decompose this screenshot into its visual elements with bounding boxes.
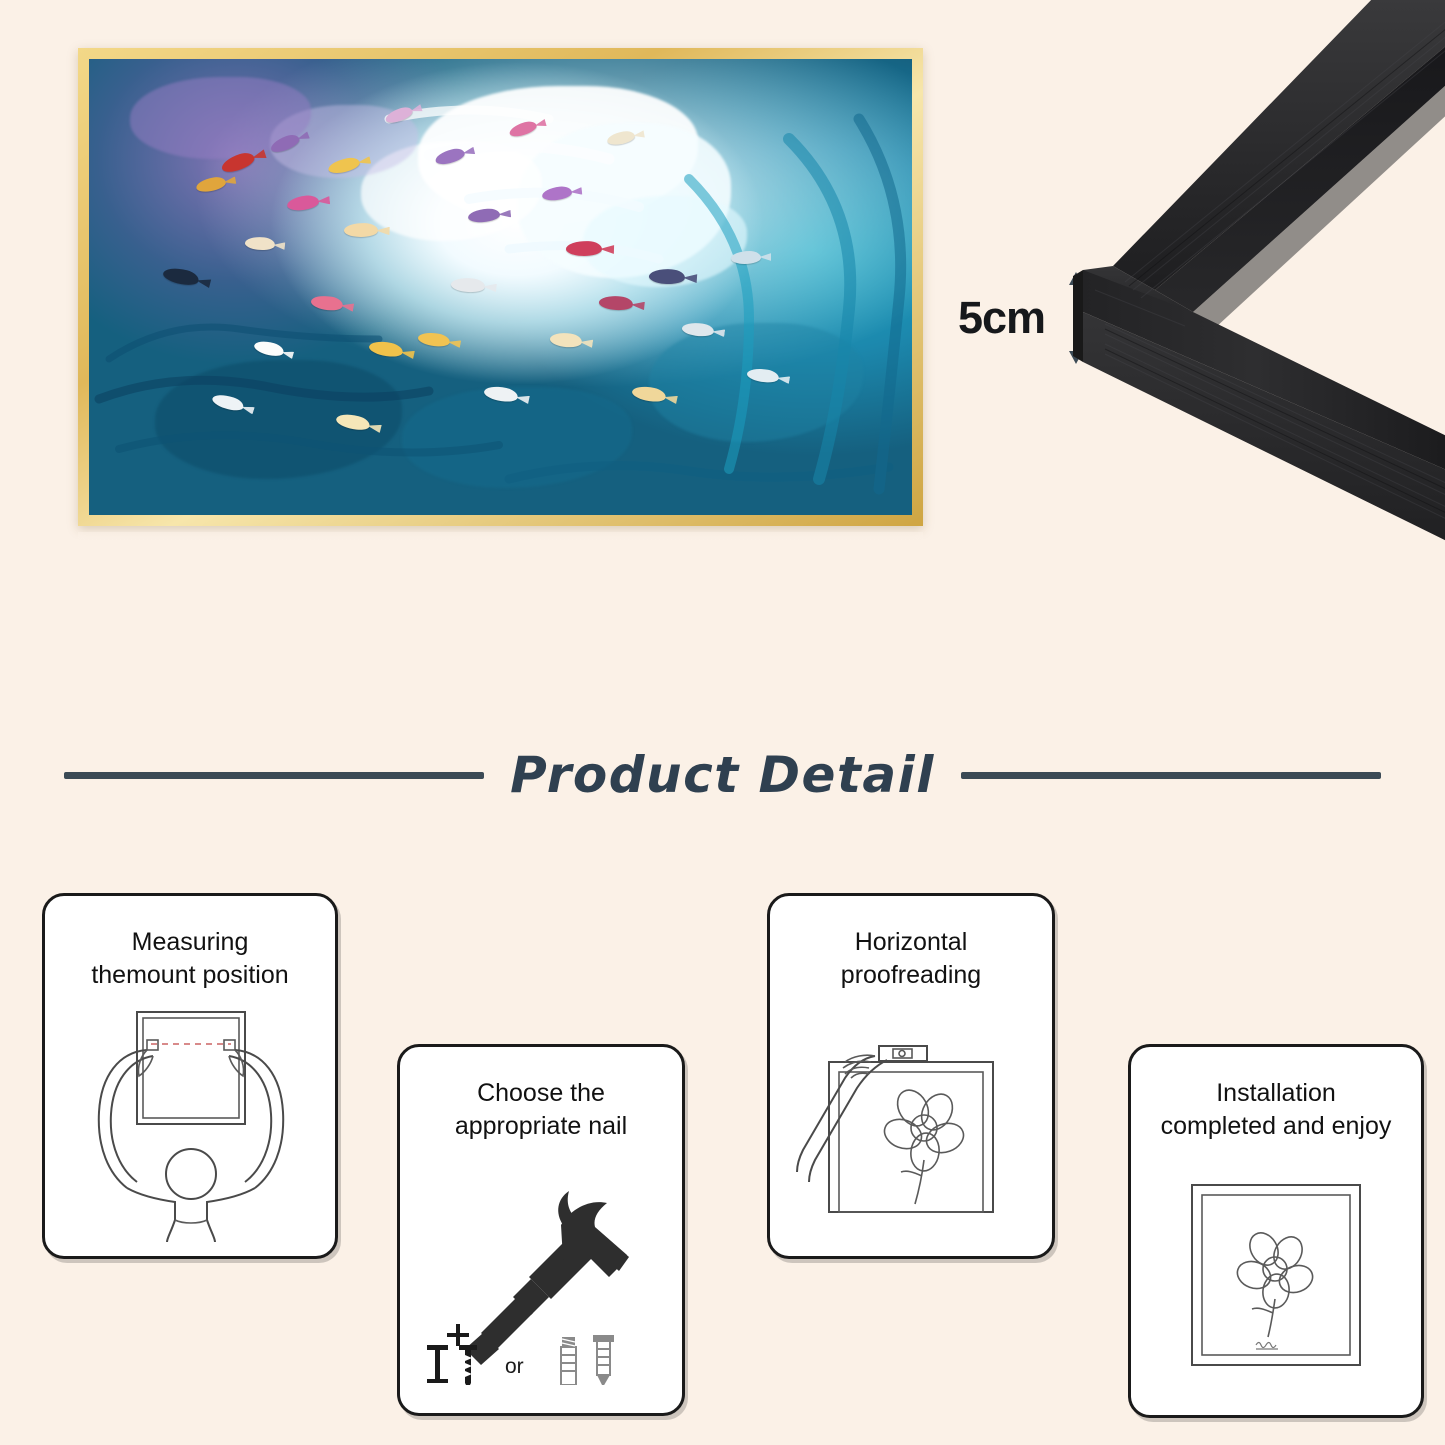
artwork-mirror-reflection (78, 532, 923, 877)
framed-artwork (78, 48, 923, 526)
fish-painting (89, 59, 912, 515)
instruction-card-nail[interactable]: Choose the appropriate nail (397, 1044, 685, 1416)
card-title-level: Horizontal proofreading (770, 926, 1052, 992)
instruction-card-measure[interactable]: Measuring themount position (42, 893, 338, 1259)
instruction-card-level[interactable]: Horizontal proofreading (767, 893, 1055, 1259)
instruction-card-done[interactable]: Installation completed and enjoy (1128, 1044, 1424, 1418)
hand-with-spirit-level-icon (770, 1020, 1052, 1220)
heading-rule-right (961, 772, 1381, 779)
card-title-done: Installation completed and enjoy (1131, 1077, 1421, 1143)
dimension-label: 5cm (958, 292, 1045, 344)
hammer-and-nails-icon: or (400, 1173, 682, 1385)
page-title: Product Detail (510, 746, 935, 804)
card-title-measure: Measuring themount position (45, 926, 335, 992)
framed-flower-picture-icon (1131, 1179, 1421, 1371)
reflection-fade-overlay (78, 532, 923, 877)
product-detail-page: 5cm (0, 0, 1445, 1445)
person-holding-frame-icon (45, 1006, 335, 1242)
heading-rule-left (64, 772, 484, 779)
brushwork-overlay (89, 59, 912, 515)
black-wood-frame-corner (1045, 0, 1445, 570)
section-heading: Product Detail (0, 740, 1445, 810)
canvas-surface (89, 59, 912, 515)
or-label: or (505, 1355, 524, 1378)
card-title-nail: Choose the appropriate nail (400, 1077, 682, 1143)
